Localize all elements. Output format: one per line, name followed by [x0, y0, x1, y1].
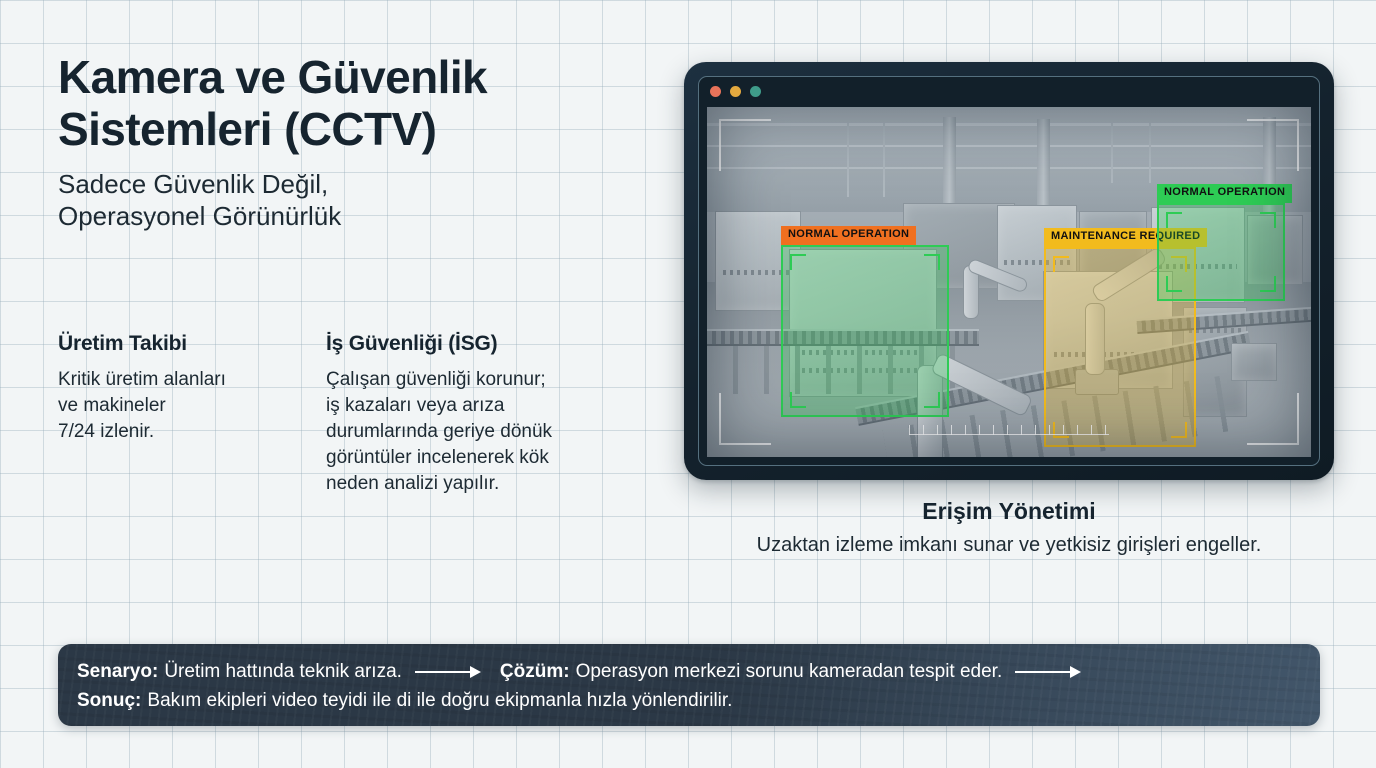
feature-list: Üretim Takibi Kritik üretim alanları ve …	[58, 332, 658, 497]
ceiling-beam	[707, 167, 1311, 169]
arrow-right-icon-2	[1015, 665, 1087, 679]
feature-title: Üretim Takibi	[58, 332, 280, 356]
minimize-dot-icon[interactable]	[730, 86, 741, 97]
feature-body: Çalışan güvenliği korunur; iş kazaları v…	[326, 367, 611, 497]
ceiling-beam	[707, 123, 1311, 126]
scenario-row-1: Senaryo: Üretim hattında teknik arıza. Ç…	[77, 657, 1301, 686]
caption-title: Erişim Yönetimi	[684, 498, 1334, 525]
hanging-rod	[1149, 123, 1151, 183]
hanging-rod	[883, 123, 885, 197]
monitor-inner-bezel: NORMAL OPERATION MAINTENANCE REQUIRED NO…	[698, 76, 1320, 466]
monitor-frame: NORMAL OPERATION MAINTENANCE REQUIRED NO…	[684, 62, 1334, 480]
caption-text: Uzaktan izleme imkanı sunar ve yetkisiz …	[684, 532, 1334, 558]
feature-body: Kritik üretim alanları ve makineler 7/24…	[58, 367, 280, 445]
scenario-text-sonuc: Bakım ekipleri video teyidi ile di ile d…	[147, 686, 732, 715]
scenario-bar-content: Senaryo: Üretim hattında teknik arıza. Ç…	[77, 657, 1301, 716]
scenario-label-senaryo: Senaryo:	[77, 657, 158, 686]
slide-root: Kamera ve Güvenlik Sistemleri (CCTV) Sad…	[0, 0, 1376, 768]
page-subtitle: Sadece Güvenlik Değil, Operasyonel Görün…	[58, 169, 658, 232]
scenario-bar: Senaryo: Üretim hattında teknik arıza. Ç…	[58, 644, 1320, 726]
scenario-label-cozum: Çözüm:	[500, 657, 570, 686]
arrow-right-icon	[415, 665, 487, 679]
hanging-rod	[847, 123, 849, 197]
detection-box-normal-right[interactable]: NORMAL OPERATION	[1157, 203, 1285, 301]
close-dot-icon[interactable]	[710, 86, 721, 97]
detection-box-normal-left[interactable]: NORMAL OPERATION	[781, 245, 949, 417]
detection-label-normal-operation-right: NORMAL OPERATION	[1157, 184, 1292, 203]
scenario-label-sonuc: Sonuç:	[77, 686, 141, 715]
maximize-dot-icon[interactable]	[750, 86, 761, 97]
ceiling-beam	[707, 145, 1311, 147]
detection-label-normal-operation-left: NORMAL OPERATION	[781, 226, 916, 245]
hanging-rod	[1111, 123, 1113, 183]
feature-is-guvenligi: İş Güvenliği (İSG) Çalışan güvenliği kor…	[326, 332, 611, 497]
scenario-row-2: Sonuç: Bakım ekipleri video teyidi ile d…	[77, 686, 1301, 715]
hmi-terminal	[1231, 343, 1277, 381]
feature-uretim-takibi: Üretim Takibi Kritik üretim alanları ve …	[58, 332, 280, 497]
page-title: Kamera ve Güvenlik Sistemleri (CCTV)	[58, 52, 658, 155]
left-column: Kamera ve Güvenlik Sistemleri (CCTV) Sad…	[58, 52, 658, 232]
feature-title: İş Güvenliği (İSG)	[326, 332, 611, 356]
scenario-text-cozum: Operasyon merkezi sorunu kameradan tespi…	[576, 657, 1003, 686]
window-controls[interactable]	[710, 86, 761, 97]
scenario-text-senaryo: Üretim hattında teknik arıza.	[164, 657, 402, 686]
monitor-caption: Erişim Yönetimi Uzaktan izleme imkanı su…	[684, 498, 1334, 558]
cctv-screen[interactable]: NORMAL OPERATION MAINTENANCE REQUIRED NO…	[707, 107, 1311, 457]
